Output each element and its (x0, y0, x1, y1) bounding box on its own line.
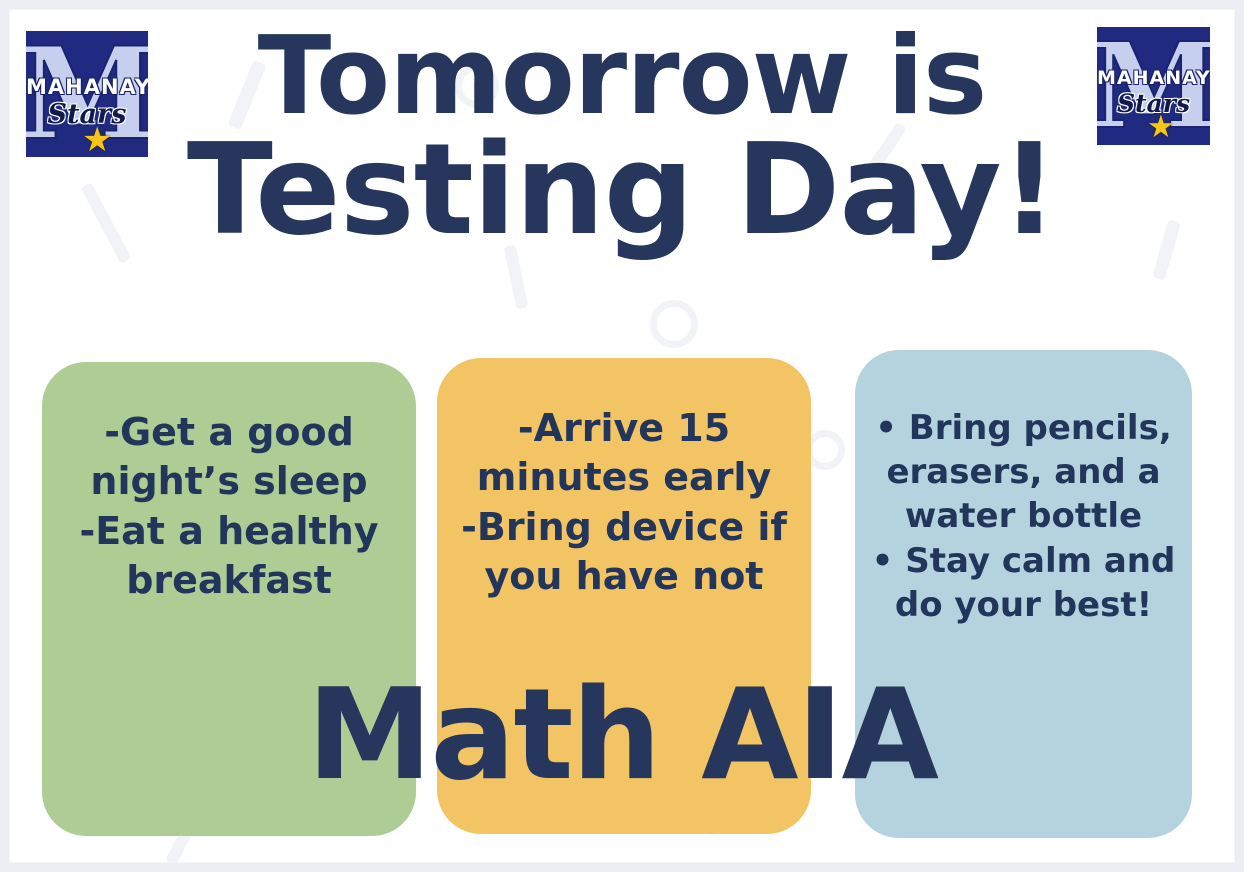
school-logo-right: M MAHANAY Stars ★ (1094, 24, 1213, 148)
testing-day-poster: Tomorrow is Testing Day! M MAHANAY Stars… (0, 0, 1244, 872)
school-logo-left: M MAHANAY Stars ★ (23, 28, 151, 160)
watermark-circle-2 (805, 430, 845, 470)
tip-line: water bottle (869, 494, 1178, 538)
tip-line: • Bring pencils, (869, 406, 1178, 450)
banner-subject: Math AIA (0, 672, 1244, 798)
logo-school-name: MAHANAY (26, 75, 148, 99)
tip-line: night’s sleep (56, 457, 402, 506)
tip-line: erasers, and a (869, 450, 1178, 494)
star-icon: ★ (1147, 111, 1175, 142)
page-title: Tomorrow is Testing Day! (0, 22, 1244, 255)
tip-line: breakfast (56, 556, 402, 605)
star-icon: ★ (82, 123, 112, 157)
logo-school-name: MAHANAY (1097, 67, 1210, 89)
tip-line: -Bring device if (451, 503, 797, 552)
tip-line: -Get a good (56, 408, 402, 457)
tip-line: • Stay calm and (869, 539, 1178, 583)
tip-line: you have not (451, 552, 797, 601)
tip-line: do your best! (869, 583, 1178, 627)
watermark-circle-1 (650, 300, 698, 348)
tip-line: -Eat a healthy (56, 507, 402, 556)
headline-line-2: Testing Day! (0, 126, 1244, 255)
tip-line: minutes early (451, 453, 797, 502)
tip-line: -Arrive 15 (451, 404, 797, 453)
